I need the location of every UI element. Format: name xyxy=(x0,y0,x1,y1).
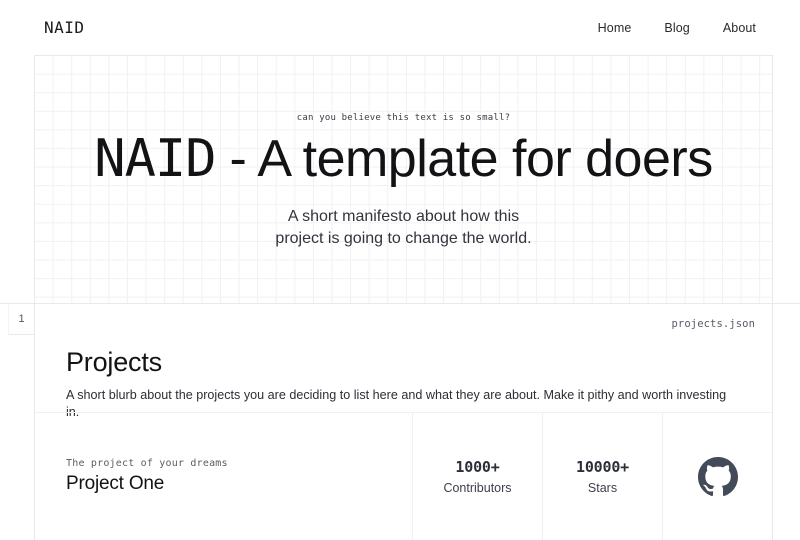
main-nav: Home Blog About xyxy=(598,21,756,35)
page-root: NAID Home Blog About can you believe thi… xyxy=(0,0,800,540)
github-icon[interactable] xyxy=(697,456,739,498)
hero-content: can you believe this text is so small? N… xyxy=(35,113,772,250)
projects-title: Projects xyxy=(66,346,741,378)
stat-label-stars: Stars xyxy=(588,481,617,495)
stat-card-stars: 10000+ Stars xyxy=(543,413,663,540)
hero-title-mono: NAID xyxy=(94,129,215,189)
hero-title: NAID - A template for doers xyxy=(35,130,772,188)
stat-value-contributors: 1000+ xyxy=(455,458,499,476)
stat-card-contributors: 1000+ Contributors xyxy=(413,413,543,540)
project-card-title: Project One xyxy=(66,473,164,495)
site-header: NAID Home Blog About xyxy=(0,0,800,55)
nav-link-blog[interactable]: Blog xyxy=(664,21,689,35)
hero-title-sans: - A template for doers xyxy=(216,130,713,188)
hero-section: can you believe this text is so small? N… xyxy=(35,55,772,303)
hero-subtitle-line-2: project is going to change the world. xyxy=(275,230,531,247)
hero-subtitle: A short manifesto about how this project… xyxy=(35,206,772,250)
nav-link-home[interactable]: Home xyxy=(598,21,632,35)
stat-label-contributors: Contributors xyxy=(443,481,511,495)
github-link-card[interactable] xyxy=(663,413,772,540)
frame-rail-left xyxy=(34,0,35,540)
project-card-eyebrow: The project of your dreams xyxy=(66,458,228,469)
project-card[interactable]: The project of your dreams Project One xyxy=(35,413,413,540)
stat-value-stars: 10000+ xyxy=(576,458,629,476)
nav-link-about[interactable]: About xyxy=(723,21,756,35)
hero-subtitle-line-1: A short manifesto about how this xyxy=(288,208,519,225)
hero-top-rule xyxy=(35,55,772,56)
cards-row: The project of your dreams Project One 1… xyxy=(35,413,772,540)
site-logo[interactable]: NAID xyxy=(44,18,85,37)
hero-kicker: can you believe this text is so small? xyxy=(35,113,772,123)
file-tag-label: projects.json xyxy=(672,318,755,330)
section-divider xyxy=(0,303,800,304)
projects-header: Projects A short blurb about the project… xyxy=(66,346,741,421)
frame-rail-right xyxy=(772,0,773,540)
projects-section: projects.json Projects A short blurb abo… xyxy=(35,304,772,540)
section-number-badge: 1 xyxy=(8,304,35,335)
